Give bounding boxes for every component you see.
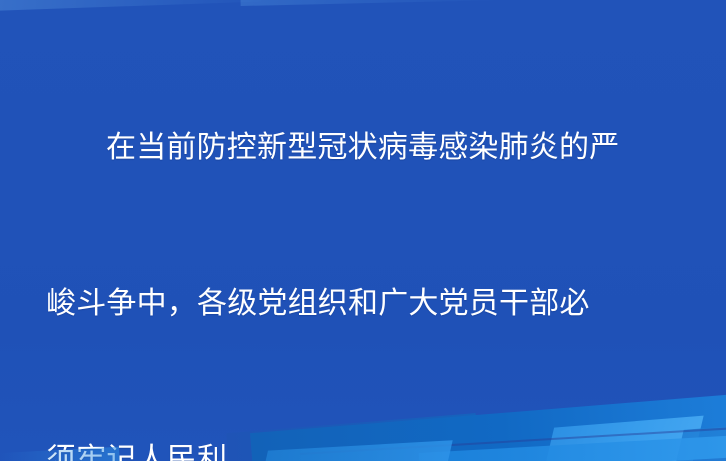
deco-band-tiny — [0, 447, 120, 461]
body-text-line-2: 峻斗争中，各级党组织和广大党员干部必 — [46, 278, 696, 330]
slide-canvas: 在当前防控新型冠状病毒感染肺炎的严 峻斗争中，各级党组织和广大党员干部必 须牢记… — [0, 0, 726, 461]
body-text-line-1: 在当前防控新型冠状病毒感染肺炎的严 — [46, 122, 696, 174]
bottom-decoration — [0, 391, 726, 461]
